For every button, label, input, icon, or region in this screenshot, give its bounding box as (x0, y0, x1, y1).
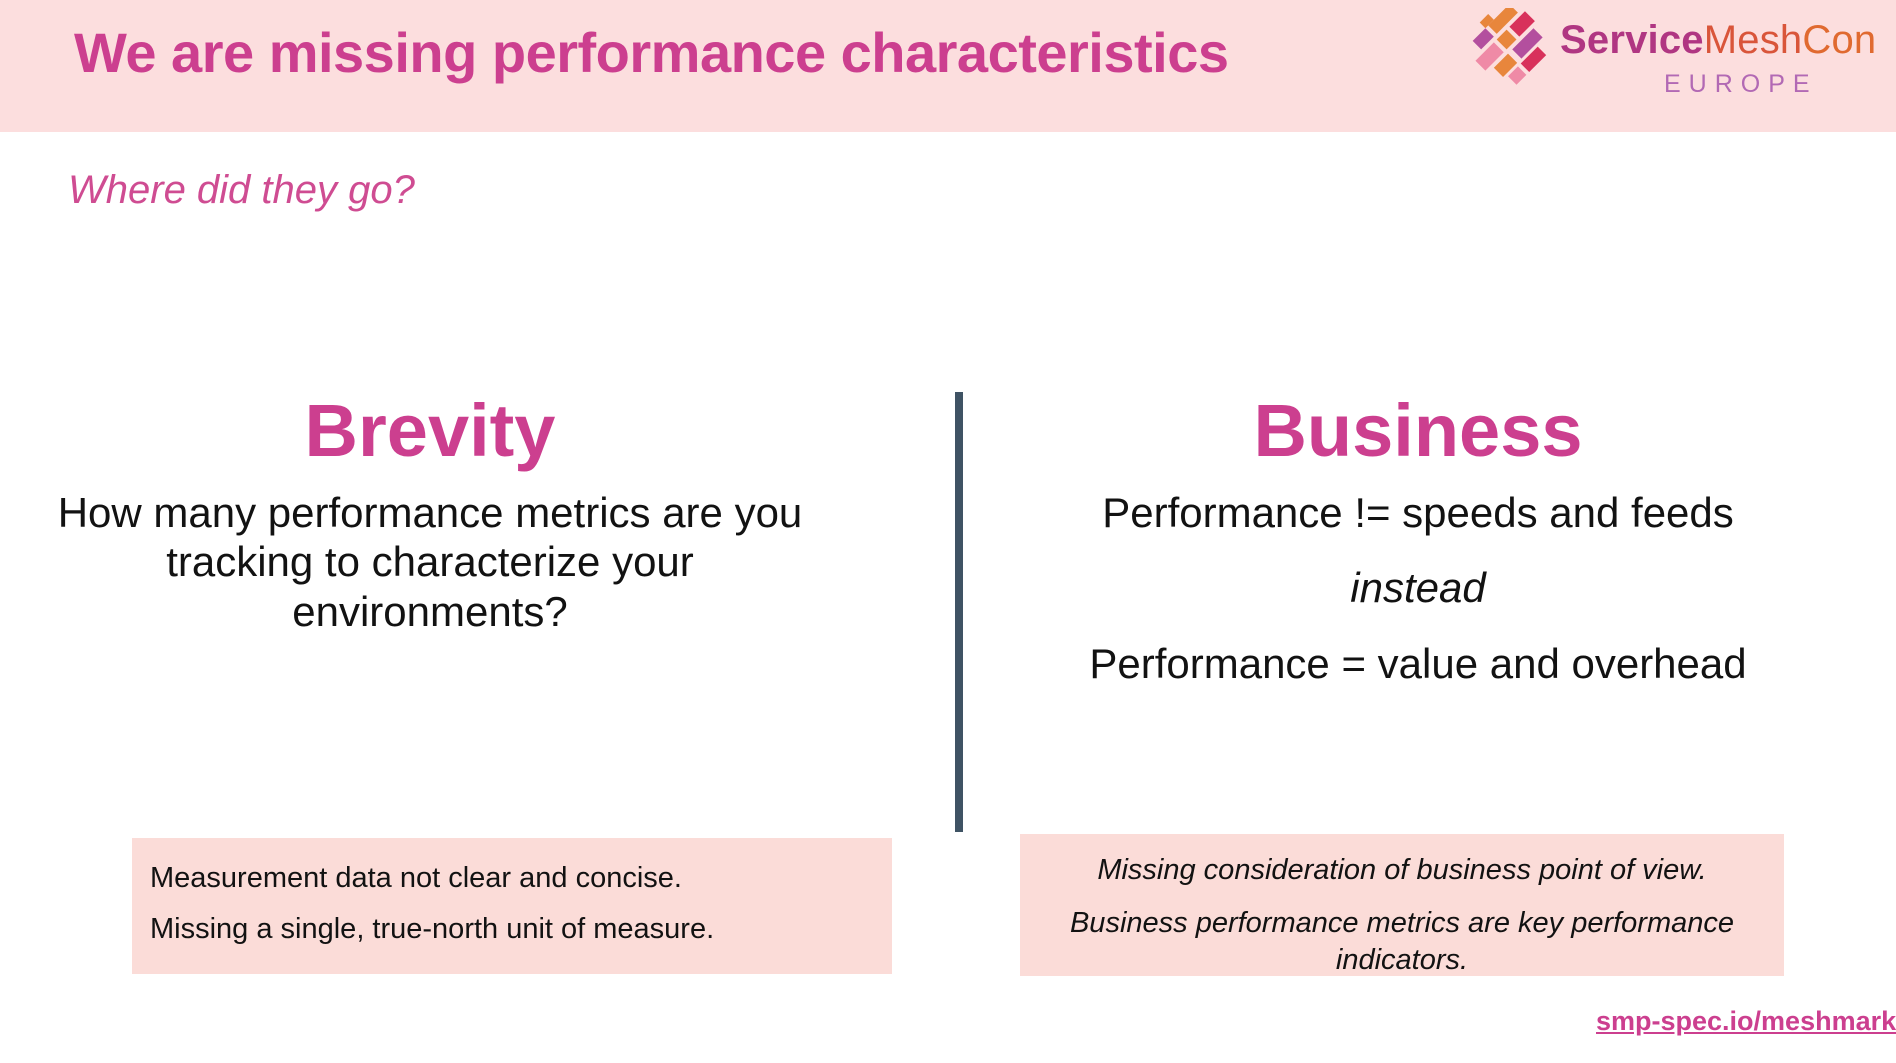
column-body-line: Performance != speeds and feeds (1018, 488, 1818, 538)
logo-word-mesh: Mesh (1704, 18, 1803, 62)
column-body-brevity: How many performance metrics are you tra… (50, 488, 810, 637)
servicemeshcon-logo: ServiceMeshCon EUROPE (1466, 4, 1876, 128)
column-body-business: Performance != speeds and feeds instead … (1018, 488, 1818, 689)
callout-line: Missing consideration of business point … (1044, 852, 1760, 889)
slide-subtitle: Where did they go? (68, 168, 415, 213)
servicemeshcon-mesh-mark (1466, 8, 1550, 88)
column-heading-brevity: Brevity (20, 392, 840, 470)
footer-link-smp-spec[interactable]: smp-spec.io/meshmark (1596, 1006, 1896, 1037)
logo-word-service: Service (1560, 18, 1704, 62)
column-body-line: Performance = value and overhead (1018, 639, 1818, 689)
column-business: Business Performance != speeds and feeds… (1008, 392, 1828, 714)
logo-region-label: EUROPE (1664, 70, 1818, 99)
column-body-line-instead: instead (1018, 563, 1818, 613)
column-heading-business: Business (1008, 392, 1828, 470)
column-divider (955, 392, 963, 832)
callout-brevity: Measurement data not clear and concise. … (132, 838, 892, 974)
logo-wordmark: ServiceMeshCon (1560, 18, 1876, 63)
column-brevity: Brevity How many performance metrics are… (20, 392, 840, 646)
callout-line: Missing a single, true-north unit of mea… (150, 911, 874, 948)
page-title: We are missing performance characteristi… (74, 22, 1424, 84)
callout-line: Measurement data not clear and concise. (150, 860, 874, 897)
callout-business: Missing consideration of business point … (1020, 834, 1784, 976)
callout-line: Business performance metrics are key per… (1044, 905, 1760, 979)
logo-word-con: Con (1802, 18, 1876, 62)
column-body-line: How many performance metrics are you tra… (50, 488, 810, 637)
